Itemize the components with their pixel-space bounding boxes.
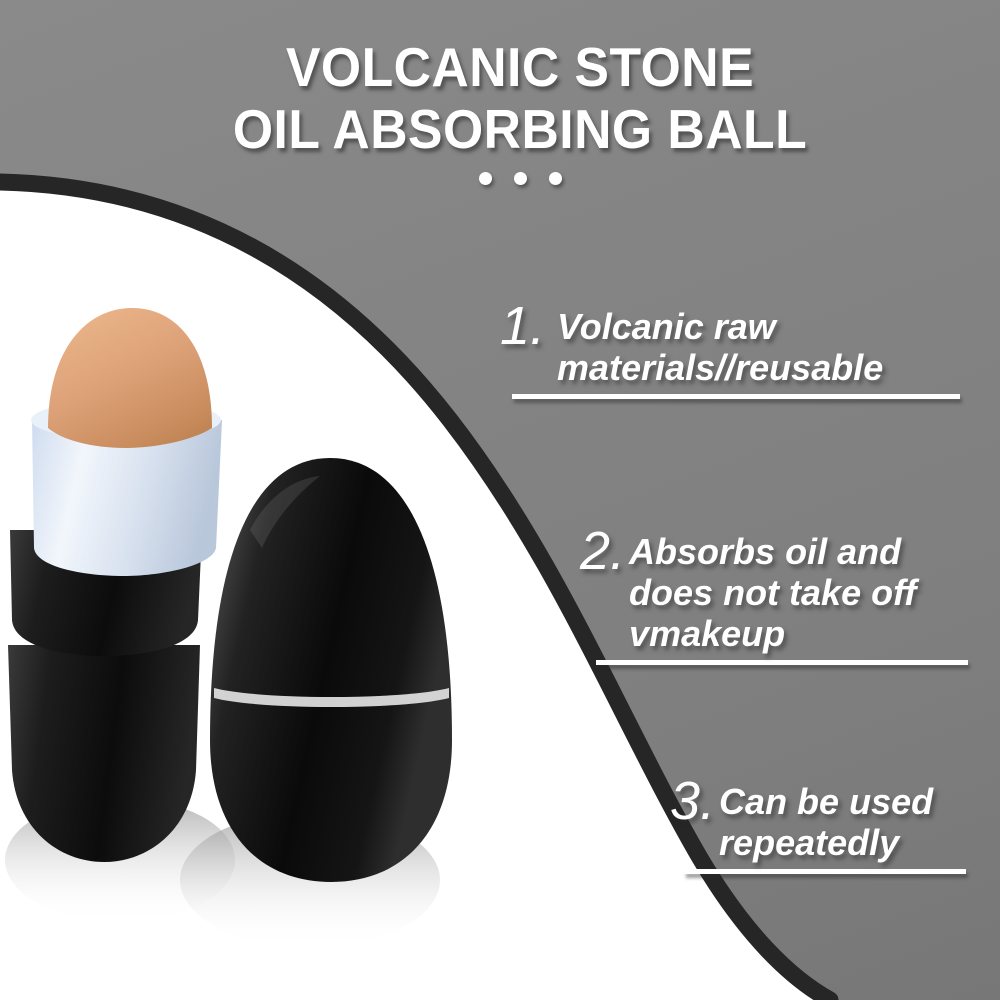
- feature-underline: [596, 660, 968, 665]
- title-line-1: VOLCANIC STONE: [144, 36, 896, 98]
- feature-number: 2.: [580, 525, 625, 577]
- title-block: VOLCANIC STONE OIL ABSORBING BALL: [120, 36, 920, 185]
- feature-row: 1. Volcanic raw materials//reusable: [500, 300, 970, 388]
- feature-item-3: 3. Can be used repeatedly: [670, 775, 980, 874]
- feature-text: Absorbs oil and does not take off vmakeu…: [629, 525, 980, 654]
- advertisement-canvas: VOLCANIC STONE OIL ABSORBING BALL 1. Vol…: [0, 0, 1000, 1000]
- feature-row: 3. Can be used repeatedly: [670, 775, 980, 863]
- feature-text: Can be used repeatedly: [719, 775, 980, 863]
- dot-icon: [479, 172, 492, 185]
- feature-number: 1.: [500, 300, 545, 352]
- dot-icon: [549, 172, 562, 185]
- closed-product-egg: [210, 458, 452, 882]
- feature-item-2: 2. Absorbs oil and does not take off vma…: [580, 525, 980, 665]
- feature-item-1: 1. Volcanic raw materials//reusable: [500, 300, 970, 399]
- egg-body: [210, 458, 452, 882]
- feature-underline: [684, 869, 966, 874]
- feature-underline: [512, 394, 960, 399]
- feature-text: Volcanic raw materials//reusable: [557, 300, 970, 388]
- title-dots: [120, 172, 920, 185]
- dot-icon: [514, 172, 527, 185]
- feature-number: 3.: [670, 775, 715, 827]
- product-base-lower: [8, 645, 200, 862]
- title-line-2: OIL ABSORBING BALL: [144, 98, 896, 160]
- product-image-group: [0, 300, 520, 960]
- volcanic-stone-dome: [48, 308, 212, 448]
- opened-product: [8, 308, 222, 862]
- feature-row: 2. Absorbs oil and does not take off vma…: [580, 525, 980, 654]
